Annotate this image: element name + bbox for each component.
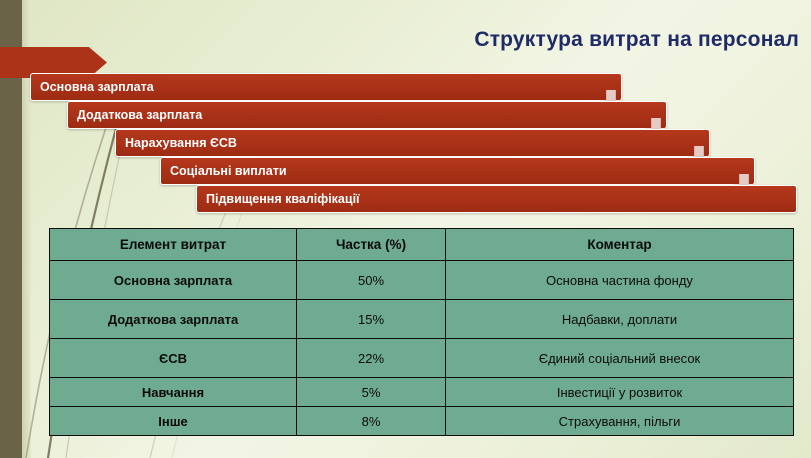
table-cell-comment: Єдиний соціальний внесок <box>446 339 794 378</box>
table-cell-element: Основна зарплата <box>50 261 297 300</box>
process-bar-4-label: Соціальні виплати <box>161 164 287 178</box>
table-cell-share: 22% <box>297 339 446 378</box>
process-bar-3[interactable]: Нарахування ЄСВ <box>115 129 710 157</box>
table-row[interactable]: Додаткова зарплата 15% Надбавки, доплати <box>50 300 794 339</box>
process-bar-5-label: Підвищення кваліфікації <box>197 192 360 206</box>
slide-canvas: Структура витрат на персонал Основна зар… <box>0 0 811 458</box>
table-cell-comment: Надбавки, доплати <box>446 300 794 339</box>
page-title: Структура витрат на персонал <box>474 28 799 52</box>
table-cell-share: 15% <box>297 300 446 339</box>
table-cell-comment: Основна частина фонду <box>446 261 794 300</box>
table-cell-comment: Страхування, пільги <box>446 407 794 436</box>
table-cell-share: 50% <box>297 261 446 300</box>
table-row[interactable]: Навчання 5% Інвестиції у розвиток <box>50 378 794 407</box>
process-bar-3-label: Нарахування ЄСВ <box>116 136 237 150</box>
process-bar-2-label: Додаткова зарплата <box>68 108 202 122</box>
table-cell-element: Навчання <box>50 378 297 407</box>
table-row[interactable]: Основна зарплата 50% Основна частина фон… <box>50 261 794 300</box>
table-row[interactable]: Інше 8% Страхування, пільги <box>50 407 794 436</box>
table-cell-share: 5% <box>297 378 446 407</box>
table-header-share: Частка (%) <box>297 229 446 261</box>
table-cell-element: Додаткова зарплата <box>50 300 297 339</box>
table-cell-element: ЄСВ <box>50 339 297 378</box>
process-bar-5[interactable]: Підвищення кваліфікації <box>196 185 797 213</box>
process-bar-2[interactable]: Додаткова зарплата <box>67 101 667 129</box>
process-bar-1[interactable]: Основна зарплата <box>30 73 622 101</box>
table-header-element: Елемент витрат <box>50 229 297 261</box>
table-cell-share: 8% <box>297 407 446 436</box>
process-bar-4[interactable]: Соціальні виплати <box>160 157 755 185</box>
table-header-comment: Коментар <box>446 229 794 261</box>
table-row[interactable]: ЄСВ 22% Єдиний соціальний внесок <box>50 339 794 378</box>
process-bar-1-label: Основна зарплата <box>31 80 154 94</box>
table-header-row: Елемент витрат Частка (%) Коментар <box>50 229 794 261</box>
table-cell-element: Інше <box>50 407 297 436</box>
cost-structure-table: Елемент витрат Частка (%) Коментар Основ… <box>49 228 794 436</box>
table-cell-comment: Інвестиції у розвиток <box>446 378 794 407</box>
